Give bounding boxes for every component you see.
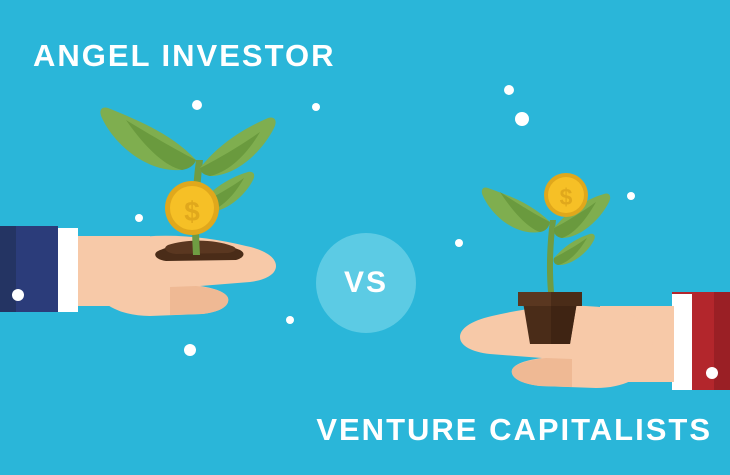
title-angel-investor: ANGEL INVESTOR (33, 38, 335, 74)
vs-badge: VS (316, 233, 416, 333)
title-venture-capitalists: VENTURE CAPITALISTS (316, 412, 712, 448)
svg-text:$: $ (560, 184, 573, 210)
vs-label: VS (344, 266, 388, 300)
illustration-scene: $ $ VS ANGEL INVESTOR (0, 0, 730, 475)
